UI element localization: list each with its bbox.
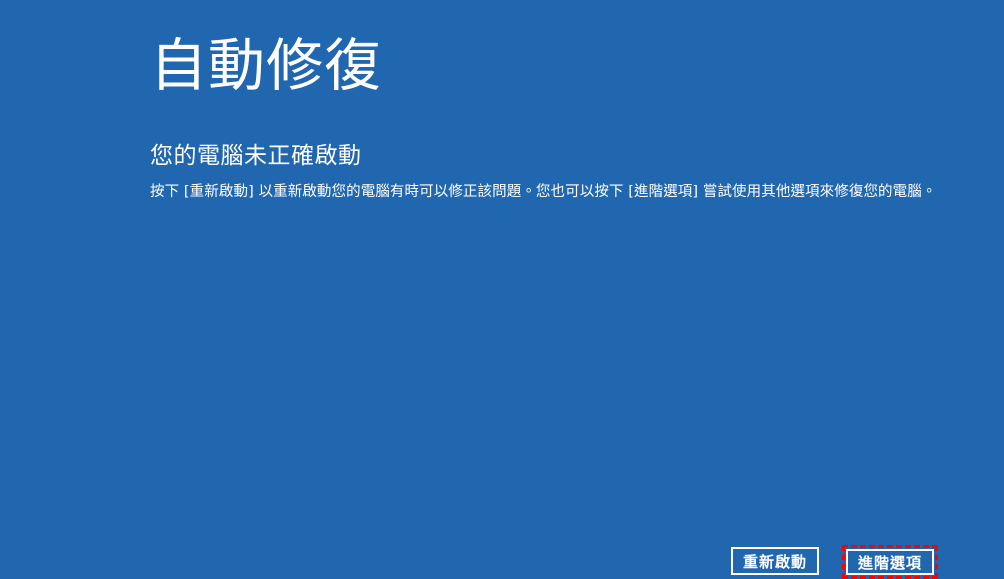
message-body: 按下 [重新啟動] 以重新啟動您的電腦有時可以修正該問題。您也可以按下 [進階選…	[150, 181, 940, 203]
restart-button[interactable]: 重新啟動	[731, 547, 819, 575]
automatic-repair-screen: 自動修復 您的電腦未正確啟動 按下 [重新啟動] 以重新啟動您的電腦有時可以修正…	[0, 0, 1004, 456]
page-title: 自動修復	[150, 33, 382, 100]
action-button-row: 重新啟動 進階選項	[0, 271, 1004, 315]
message-heading: 您的電腦未正確啟動	[150, 142, 950, 172]
advanced-options-button[interactable]: 進階選項	[846, 549, 934, 575]
message-block: 您的電腦未正確啟動 按下 [重新啟動] 以重新啟動您的電腦有時可以修正該問題。您…	[150, 142, 950, 203]
